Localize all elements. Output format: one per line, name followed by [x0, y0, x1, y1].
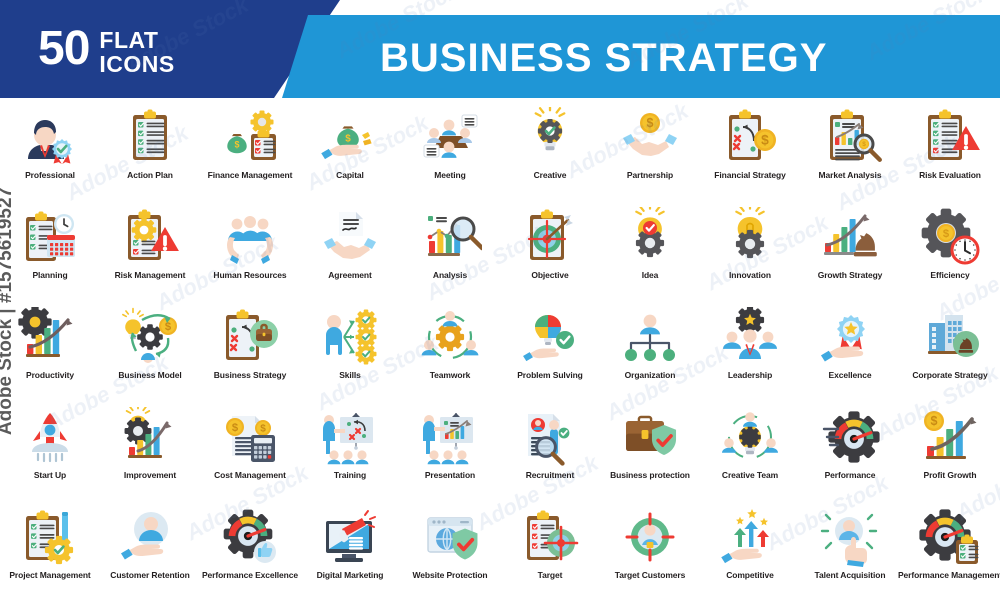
icon-cell[interactable]: Excellence: [800, 300, 900, 400]
handshake-coin-icon: $: [617, 106, 683, 168]
clipboard-checklist-icon: [117, 106, 183, 168]
icon-label: Business protection: [610, 470, 690, 480]
page-title: BUSINESS STRATEGY: [380, 36, 827, 81]
professional-icon: [17, 106, 83, 168]
browser-globe-shield-icon: [417, 506, 483, 568]
hand-puzzle-bulb-icon: [517, 306, 583, 368]
trainer-board-tactics-icon: [317, 406, 383, 468]
svg-text:$: $: [165, 321, 172, 333]
icon-label: Partnership: [627, 170, 673, 180]
icon-cell[interactable]: Target Customers: [600, 500, 700, 600]
hand-award-ribbon-icon: [817, 306, 883, 368]
icon-label: Creative Team: [722, 470, 778, 480]
icon-cell[interactable]: Action Plan: [100, 100, 200, 200]
clipboard-pencil-gear-icon: [17, 506, 83, 568]
icon-label: Start Up: [34, 470, 66, 480]
icon-cell[interactable]: Business protection: [600, 400, 700, 500]
icon-cell[interactable]: $ Efficiency: [900, 200, 1000, 300]
icon-cell[interactable]: Project Management: [0, 500, 100, 600]
header-word-icons: ICONS: [99, 52, 174, 76]
person-gears-icon: [317, 306, 383, 368]
icon-label: Organization: [625, 370, 676, 380]
header-word-flat: FLAT: [99, 28, 174, 52]
icon-cell[interactable]: Competitive: [700, 500, 800, 600]
icon-label: Analysis: [433, 270, 467, 280]
svg-text:$: $: [232, 422, 239, 434]
icon-cell[interactable]: Professional: [0, 100, 100, 200]
icon-cell[interactable]: Agreement: [300, 200, 400, 300]
icon-cell[interactable]: Problem Sulving: [500, 300, 600, 400]
icon-cell[interactable]: $ Partnership: [600, 100, 700, 200]
icon-label: Corporate Strategy: [912, 370, 987, 380]
icon-label: Target Customers: [615, 570, 686, 580]
icon-cell[interactable]: $ Business Model: [100, 300, 200, 400]
hand-moneybag-icon: $: [317, 106, 383, 168]
icon-cell[interactable]: Risk Evaluation: [900, 100, 1000, 200]
icon-cell[interactable]: Talent Acquisition: [800, 500, 900, 600]
svg-text:$: $: [931, 414, 938, 428]
poster-header: 50 FLAT ICONS BUSINESS STRATEGY: [0, 0, 1000, 98]
bulb-gear-check-icon: [517, 106, 583, 168]
leader-gear-star-icon: [717, 306, 783, 368]
icon-label: Human Resources: [213, 270, 286, 280]
icon-cell[interactable]: Productivity: [0, 300, 100, 400]
bar-chart-magnifier-icon: [417, 206, 483, 268]
bulb-gear-icon: [717, 206, 783, 268]
svg-text:$: $: [260, 423, 266, 434]
icon-label: Financial Strategy: [714, 170, 785, 180]
icon-cell[interactable]: $ Market Analysis: [800, 100, 900, 200]
clipboard-tactics-coin-icon: $: [717, 106, 783, 168]
icon-cell[interactable]: $ Capital: [300, 100, 400, 200]
icon-label: Efficiency: [930, 270, 969, 280]
icon-label: Performance Excellence: [202, 570, 298, 580]
bulb-gear-growth-chart-icon: [117, 406, 183, 468]
icon-cell[interactable]: Improvement: [100, 400, 200, 500]
icon-cell[interactable]: Analysis: [400, 200, 500, 300]
icon-label: Website Protection: [412, 570, 487, 580]
icon-cell[interactable]: Corporate Strategy: [900, 300, 1000, 400]
rocket-icon: [17, 406, 83, 468]
team-bulb-gear-icon: [717, 406, 783, 468]
gear-chart-arrow-icon: [17, 306, 83, 368]
svg-text:$: $: [345, 133, 351, 144]
icon-label: Performance Management: [898, 570, 1000, 580]
meeting-table-icon: [417, 106, 483, 168]
icon-label: Project Management: [9, 570, 90, 580]
hands-people-icon: [217, 206, 283, 268]
icon-label: Training: [334, 470, 366, 480]
icon-label: Creative: [534, 170, 567, 180]
icon-cell[interactable]: $ Finance Management: [200, 100, 300, 200]
icon-label: Business Model: [118, 370, 181, 380]
cycle-bulb-gear-coin-icon: $: [117, 306, 183, 368]
icon-cell[interactable]: Customer Retention: [100, 500, 200, 600]
gauge-clipboard-icon: [917, 506, 983, 568]
calculator-coins-document-icon: $ $: [217, 406, 283, 468]
clipboard-tactics-briefcase-icon: [217, 306, 283, 368]
icon-label: Profit Growth: [924, 470, 977, 480]
icon-cell[interactable]: $ Financial Strategy: [700, 100, 800, 200]
svg-text:$: $: [862, 141, 866, 148]
icon-label: Action Plan: [127, 170, 173, 180]
icon-cell[interactable]: Recruitment: [500, 400, 600, 500]
clipboard-gear-warning-icon: [117, 206, 183, 268]
icon-label: Excellence: [829, 370, 872, 380]
icon-label: Risk Management: [115, 270, 186, 280]
icon-label: Productivity: [26, 370, 74, 380]
icon-label: Skills: [339, 370, 361, 380]
icon-cell[interactable]: Creative: [500, 100, 600, 200]
icon-cell[interactable]: Creative Team: [700, 400, 800, 500]
icon-label: Teamwork: [430, 370, 471, 380]
gear-coin-clock-icon: $: [917, 206, 983, 268]
icon-cell[interactable]: Objective: [500, 200, 600, 300]
svg-text:$: $: [235, 140, 240, 150]
target-person-icon: [617, 506, 683, 568]
icon-cell[interactable]: Idea: [600, 200, 700, 300]
icon-label: Recruitment: [526, 470, 575, 480]
icon-cell[interactable]: Training: [300, 400, 400, 500]
clipboard-target-icon: [517, 506, 583, 568]
svg-text:$: $: [943, 228, 950, 240]
icon-cell[interactable]: Leadership: [700, 300, 800, 400]
clipboard-target-arrow-icon: [517, 206, 583, 268]
moneybag-gear-clipboard-icon: $: [217, 106, 283, 168]
icon-label: Customer Retention: [110, 570, 189, 580]
finger-select-person-icon: [817, 506, 883, 568]
bulb-gear-badge-icon: [617, 206, 683, 268]
icon-cell[interactable]: Meeting: [400, 100, 500, 200]
icon-cell[interactable]: Presentation: [400, 400, 500, 500]
growth-chart-knight-icon: [817, 206, 883, 268]
icon-cell[interactable]: Website Protection: [400, 500, 500, 600]
header-subtitle: FLAT ICONS: [99, 24, 174, 76]
icon-count: 50: [38, 24, 89, 74]
clipboard-chart-magnifier-icon: $: [817, 106, 883, 168]
icon-cell[interactable]: Organization: [600, 300, 700, 400]
icon-cell[interactable]: Innovation: [700, 200, 800, 300]
org-chart-icon: [617, 306, 683, 368]
icon-cell[interactable]: Planning: [0, 200, 100, 300]
icon-cell[interactable]: Business Strategy: [200, 300, 300, 400]
icon-cell[interactable]: Teamwork: [400, 300, 500, 400]
icon-label: Competitive: [726, 570, 774, 580]
icon-label: Performance: [825, 470, 876, 480]
icon-label: Talent Acquisition: [815, 570, 886, 580]
icon-label: Cost Management: [214, 470, 286, 480]
icon-label: Professional: [25, 170, 75, 180]
handshake-document-icon: [317, 206, 383, 268]
icon-label: Growth Strategy: [818, 270, 883, 280]
icon-set-poster: 50 FLAT ICONS BUSINESS STRATEGY Adobe St…: [0, 0, 1000, 600]
svg-text:$: $: [761, 133, 769, 148]
icon-label: Business Strategy: [214, 370, 286, 380]
icon-label: Presentation: [425, 470, 475, 480]
presenter-board-chart-icon: [417, 406, 483, 468]
icon-cell[interactable]: Performance Excellence: [200, 500, 300, 600]
header-count-block: 50 FLAT ICONS: [38, 24, 175, 76]
briefcase-shield-icon: [617, 406, 683, 468]
icon-label: Finance Management: [208, 170, 293, 180]
icon-cell[interactable]: Digital Marketing: [300, 500, 400, 600]
icon-cell[interactable]: Performance: [800, 400, 900, 500]
icon-label: Target: [538, 570, 563, 580]
icon-label: Leadership: [728, 370, 772, 380]
clipboard-calendar-clock-icon: [17, 206, 83, 268]
icon-cell[interactable]: $ Profit Growth: [900, 400, 1000, 500]
icon-grid: Professional Action Plan $: [0, 100, 1000, 600]
icon-cell[interactable]: Growth Strategy: [800, 200, 900, 300]
gauge-thumbsup-icon: [217, 506, 283, 568]
clipboard-warning-icon: [917, 106, 983, 168]
icon-cell[interactable]: Target: [500, 500, 600, 600]
building-knight-icon: [917, 306, 983, 368]
icon-cell[interactable]: Risk Management: [100, 200, 200, 300]
icon-label: Problem Sulving: [517, 370, 583, 380]
icon-cell[interactable]: Human Resources: [200, 200, 300, 300]
icon-cell[interactable]: Start Up: [0, 400, 100, 500]
icon-label: Risk Evaluation: [919, 170, 981, 180]
icon-cell[interactable]: Performance Management: [900, 500, 1000, 600]
hand-customer-icon: [117, 506, 183, 568]
icon-label: Improvement: [124, 470, 176, 480]
icon-label: Objective: [531, 270, 568, 280]
icon-cell[interactable]: $ $ Cost Management: [200, 400, 300, 500]
coin-chart-arrow-icon: $: [917, 406, 983, 468]
resume-magnifier-icon: [517, 406, 583, 468]
icon-label: Agreement: [328, 270, 372, 280]
icon-label: Planning: [32, 270, 67, 280]
icon-label: Meeting: [434, 170, 465, 180]
gauge-gear-icon: [817, 406, 883, 468]
icon-label: Market Analysis: [819, 170, 882, 180]
icon-label: Innovation: [729, 270, 771, 280]
monitor-megaphone-icon: [317, 506, 383, 568]
icon-cell[interactable]: Skills: [300, 300, 400, 400]
icon-label: Capital: [336, 170, 364, 180]
team-circle-gear-icon: [417, 306, 483, 368]
icon-label: Digital Marketing: [317, 570, 384, 580]
svg-text:$: $: [647, 116, 654, 130]
icon-label: Idea: [642, 270, 659, 280]
hand-arrows-stars-icon: [717, 506, 783, 568]
